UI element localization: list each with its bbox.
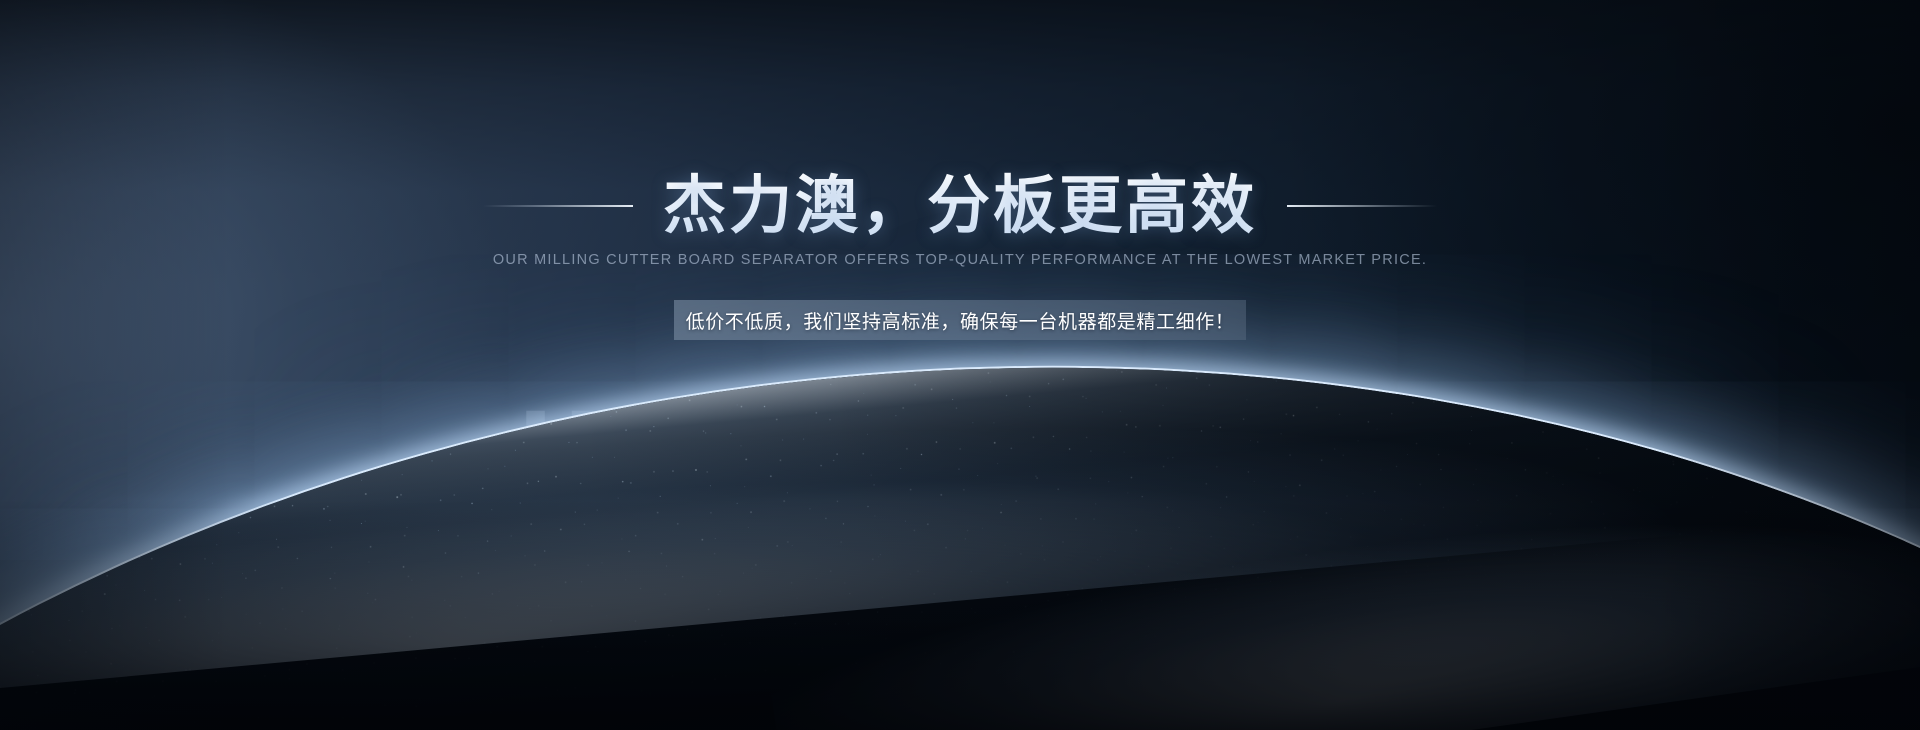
side-vignette — [0, 0, 1920, 730]
tagline-text: 低价不低质，我们坚持高标准，确保每一台机器都是精工细作！ — [686, 307, 1235, 334]
subtitle-text: OUR MILLING CUTTER BOARD SEPARATOR OFFER… — [0, 252, 1920, 268]
decorative-rule-right — [1287, 205, 1437, 207]
tagline-bar: 低价不低质，我们坚持高标准，确保每一台机器都是精工细作！ — [674, 300, 1246, 340]
page-title: 杰力澳，分板更高效 — [663, 170, 1257, 242]
hero-banner: INNOVATION 杰力澳，分板更高效 OUR MILLING CUTTER … — [0, 0, 1920, 730]
decorative-rule-left — [483, 205, 633, 207]
